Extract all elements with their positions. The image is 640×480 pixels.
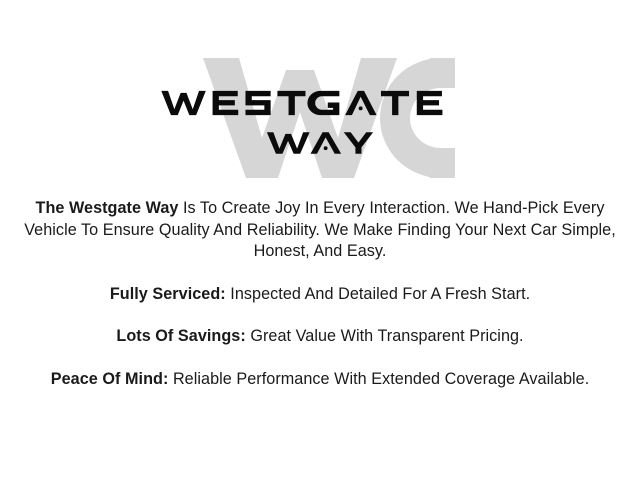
promo-card: The Westgate Way Is To Create Joy In Eve… [0,0,640,480]
brand-lockup [0,42,640,192]
paragraph-lots-of-savings: Lots Of Savings: Great Value With Transp… [16,326,624,348]
paragraph-fully-serviced: Fully Serviced: Inspected And Detailed F… [16,284,624,306]
paragraph-fully-serviced-text: Inspected And Detailed For A Fresh Start… [226,285,530,303]
paragraph-lots-of-savings-text: Great Value With Transparent Pricing. [246,327,524,345]
paragraph-peace-of-mind: Peace Of Mind: Reliable Performance With… [16,369,624,391]
paragraph-peace-of-mind-text: Reliable Performance With Extended Cover… [168,370,589,388]
paragraph-lots-of-savings-lead: Lots Of Savings: [116,327,245,345]
wordmark-way [0,130,640,160]
body-copy: The Westgate Way Is To Create Joy In Eve… [16,198,624,390]
paragraph-fully-serviced-lead: Fully Serviced: [110,285,226,303]
paragraph-intro: The Westgate Way Is To Create Joy In Eve… [16,198,624,263]
wordmark [0,42,640,192]
paragraph-intro-lead: The Westgate Way [36,199,179,217]
wordmark-westgate [0,88,640,122]
paragraph-peace-of-mind-lead: Peace Of Mind: [51,370,169,388]
